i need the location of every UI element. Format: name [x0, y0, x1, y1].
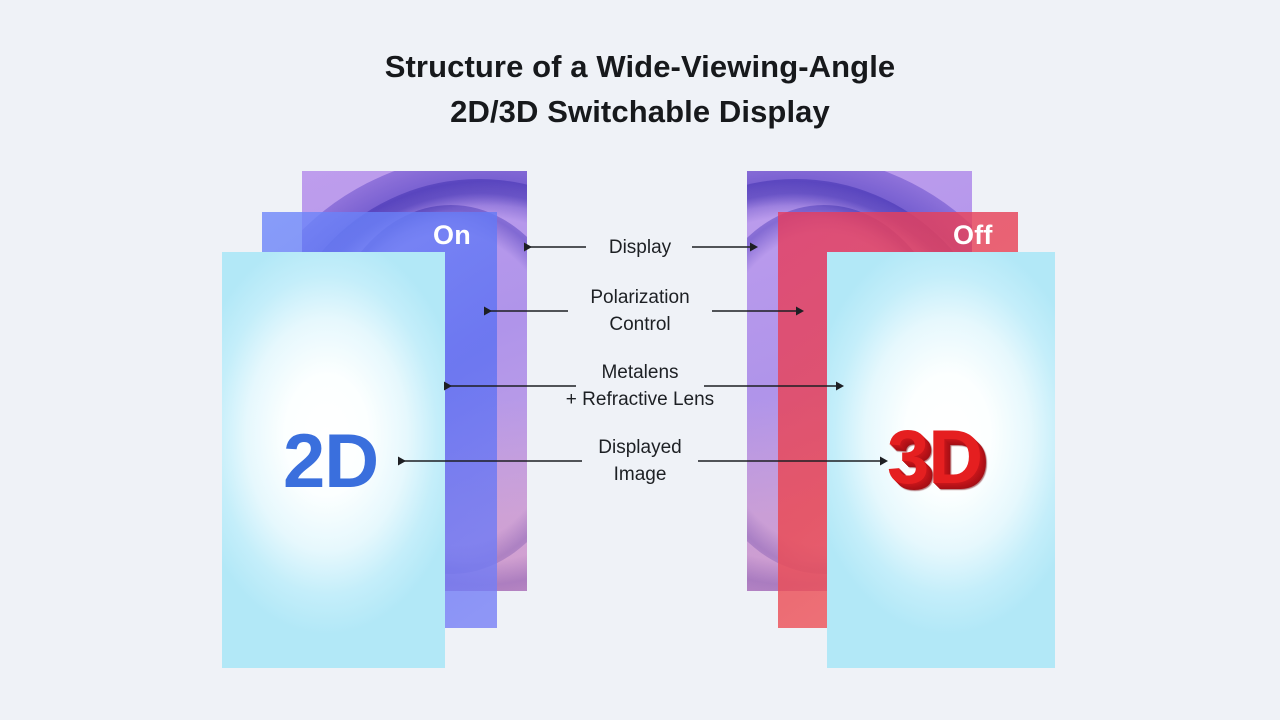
diagram-stage: On 2D Off 3D [0, 0, 1280, 720]
callout-arrows [0, 0, 1280, 720]
